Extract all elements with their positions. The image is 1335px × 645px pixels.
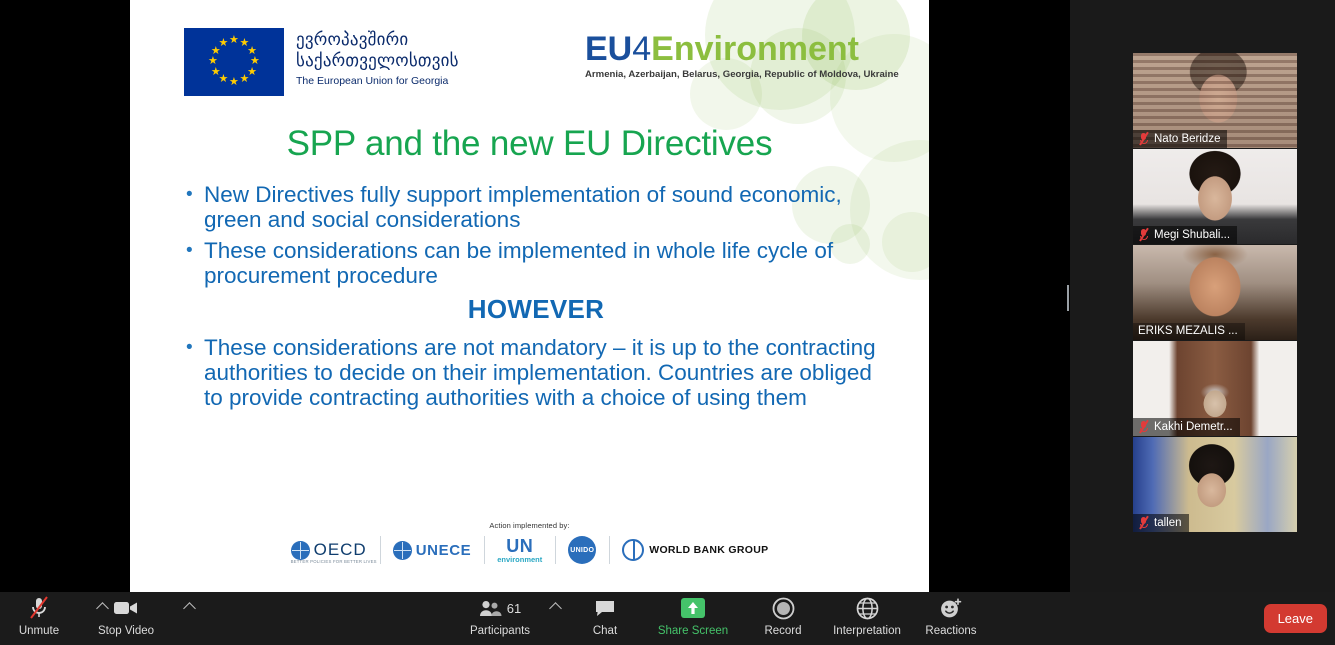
- toolbar-chat-label: Chat: [593, 625, 617, 637]
- eu-star-icon: ★: [208, 56, 218, 67]
- eu-star-icon: ★: [229, 77, 239, 88]
- participant-video-tile[interactable]: ERIKS MEZALIS ...: [1133, 245, 1297, 340]
- eu-logo-georgian-line2: საქართველოსთვის: [296, 51, 459, 72]
- toolbar-video-label: Stop Video: [98, 625, 154, 637]
- unido-logo: UNIDO: [555, 533, 609, 567]
- microphone-muted-icon: [1138, 228, 1149, 241]
- action-implemented-by-label: Action implemented by:: [130, 521, 929, 530]
- unece-label: UNECE: [416, 542, 472, 559]
- toolbar-participants-button[interactable]: 61Participants: [457, 596, 543, 637]
- slide-header: ★★★★★★★★★★★★ ევროპავშირი საქართველოსთვის…: [130, 18, 929, 110]
- slide-bullet-text: New Directives fully support implementat…: [204, 182, 886, 232]
- bullet-dot-icon: •: [186, 182, 204, 208]
- toolbar-interpretation-button[interactable]: Interpretation: [824, 596, 910, 637]
- unido-label: UNIDO: [570, 547, 594, 554]
- toolbar-mute-button[interactable]: Unmute: [0, 596, 82, 637]
- eu4env-environment-text: Environment: [651, 30, 859, 68]
- chat-bubble-icon: [594, 596, 616, 620]
- slide-bullet-item: • New Directives fully support implement…: [186, 182, 886, 232]
- eu-logo-georgian-line1: ევროპავშირი: [296, 30, 459, 51]
- video-camera-icon: [113, 596, 139, 620]
- eu-star-icon: ★: [229, 35, 239, 46]
- bullet-dot-icon: •: [186, 238, 204, 264]
- slide-bullet-text: These considerations are not mandatory –…: [204, 335, 886, 410]
- eu4env-eu-text: EU: [585, 30, 632, 68]
- microphone-muted-icon: [1138, 516, 1149, 529]
- video-filmstrip: Nato BeridzeMegi Shubali...ERIKS MEZALIS…: [1070, 0, 1335, 592]
- microphone-muted-icon: [1138, 420, 1149, 433]
- leave-button[interactable]: Leave: [1264, 604, 1327, 633]
- world-bank-group-logo: WORLD BANK GROUP: [609, 533, 781, 567]
- slide-bullet-text: These considerations can be implemented …: [204, 238, 886, 288]
- eu4env-countries-text: Armenia, Azerbaijan, Belarus, Georgia, R…: [585, 69, 899, 80]
- eu-flag-icon: ★★★★★★★★★★★★: [184, 28, 284, 96]
- european-union-georgia-logo: ★★★★★★★★★★★★ ევროპავშირი საქართველოსთვის…: [184, 28, 459, 96]
- toolbar-participants-options-caret-icon[interactable]: [549, 602, 562, 615]
- participant-count-badge: 61: [507, 601, 521, 616]
- world-bank-label: WORLD BANK GROUP: [649, 544, 768, 556]
- reactions-smiley-icon: [939, 596, 963, 620]
- un-environment-logo: UN environment: [484, 533, 555, 567]
- toolbar-share-button[interactable]: Share Screen: [650, 596, 736, 637]
- participant-name-label: Nato Beridze: [1154, 133, 1220, 145]
- participant-video-tile[interactable]: Megi Shubali...: [1133, 149, 1297, 244]
- participant-name-chip: Nato Beridze: [1133, 130, 1227, 148]
- toolbar-participants-label: Participants: [470, 625, 530, 637]
- share-screen-icon: [680, 596, 706, 620]
- record-circle-icon: [772, 596, 795, 620]
- participant-tiles: Nato BeridzeMegi Shubali...ERIKS MEZALIS…: [1133, 53, 1297, 533]
- un-environment-sub: environment: [497, 556, 542, 564]
- slide-bullet-item: • These considerations can be implemente…: [186, 238, 886, 288]
- bullet-dot-icon: •: [186, 335, 204, 361]
- slide-bullet-list: • New Directives fully support implement…: [186, 182, 886, 416]
- participant-name-label: ERIKS MEZALIS ...: [1138, 325, 1238, 337]
- participant-video-tile[interactable]: Nato Beridze: [1133, 53, 1297, 148]
- participant-name-chip: ERIKS MEZALIS ...: [1133, 323, 1245, 340]
- shared-screen-stage[interactable]: ★★★★★★★★★★★★ ევროპავშირი საქართველოსთვის…: [0, 0, 1070, 592]
- toolbar-record-label: Record: [764, 625, 801, 637]
- eu4environment-logo: EU4Environment Armenia, Azerbaijan, Bela…: [585, 30, 899, 80]
- slide-title: SPP and the new EU Directives: [130, 124, 929, 164]
- participant-name-label: Megi Shubali...: [1154, 229, 1230, 241]
- globe-icon: [856, 596, 879, 620]
- participant-video-tile[interactable]: Kakhi Demetr...: [1133, 341, 1297, 436]
- unece-logo: UNECE: [380, 533, 485, 567]
- slide-bullet-item: • These considerations are not mandatory…: [186, 335, 886, 410]
- meeting-toolbar: Leave UnmuteStop Video61ParticipantsChat…: [0, 592, 1335, 645]
- toolbar-reactions-label: Reactions: [925, 625, 976, 637]
- world-bank-globe-icon: [622, 539, 644, 561]
- slide-emphasis-text: HOWEVER: [186, 294, 886, 325]
- toolbar-mute-label: Unmute: [19, 625, 59, 637]
- slide-footer-logos: OECD BETTER POLICIES FOR BETTER LIVES UN…: [130, 533, 929, 567]
- microphone-muted-icon: [28, 596, 50, 620]
- oecd-tagline: BETTER POLICIES FOR BETTER LIVES: [291, 559, 377, 564]
- participant-name-label: Kakhi Demetr...: [1154, 421, 1233, 433]
- eu-star-icon: ★: [219, 38, 229, 49]
- unido-emblem-icon: UNIDO: [568, 536, 596, 564]
- participant-name-label: tallen: [1154, 517, 1182, 529]
- participant-name-chip: tallen: [1133, 514, 1189, 532]
- un-environment-label: UN: [497, 537, 542, 555]
- microphone-muted-icon: [1138, 132, 1149, 145]
- eu-star-icon: ★: [211, 67, 221, 78]
- toolbar-record-button[interactable]: Record: [740, 596, 826, 637]
- toolbar-chat-button[interactable]: Chat: [562, 596, 648, 637]
- oecd-label: OECD: [314, 540, 367, 560]
- participants-icon: 61: [479, 596, 521, 620]
- eu-star-icon: ★: [240, 74, 250, 85]
- participant-name-chip: Megi Shubali...: [1133, 226, 1237, 244]
- participant-video-tile[interactable]: tallen: [1133, 437, 1297, 532]
- toolbar-share-label: Share Screen: [658, 625, 728, 637]
- eu-logo-english-line: The European Union for Georgia: [296, 75, 459, 87]
- globe-icon: [291, 541, 310, 560]
- participant-name-chip: Kakhi Demetr...: [1133, 418, 1240, 436]
- oecd-logo: OECD BETTER POLICIES FOR BETTER LIVES: [278, 533, 380, 567]
- toolbar-interpretation-label: Interpretation: [833, 625, 901, 637]
- toolbar-video-options-caret-icon[interactable]: [183, 602, 196, 615]
- toolbar-reactions-button[interactable]: Reactions: [908, 596, 994, 637]
- zoom-meeting-window: ★★★★★★★★★★★★ ევროპავშირი საქართველოსთვის…: [0, 0, 1335, 645]
- un-emblem-icon: [393, 541, 412, 560]
- eu4env-four-text: 4: [632, 30, 651, 68]
- toolbar-video-button[interactable]: Stop Video: [83, 596, 169, 637]
- presentation-slide[interactable]: ★★★★★★★★★★★★ ევროპავშირი საქართველოსთვის…: [130, 0, 929, 592]
